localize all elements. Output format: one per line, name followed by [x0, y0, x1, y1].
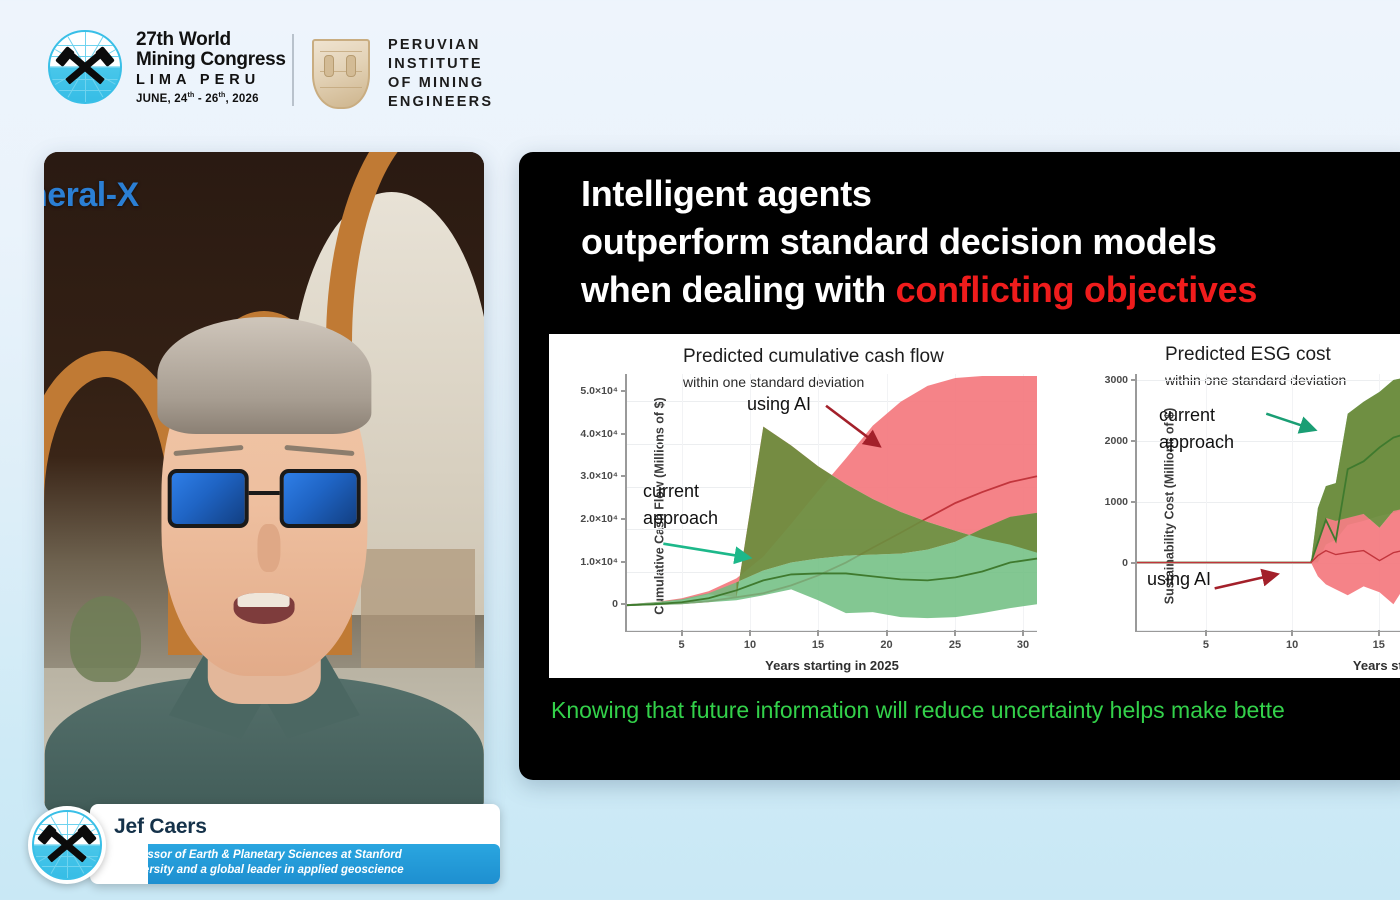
presentation-slide[interactable]: Intelligent agents outperform standard d… [519, 152, 1400, 780]
chart-left-plot-area: 0 1.0×10⁴ 2.0×10⁴ 3.0×10⁴ 4.0×10⁴ 5.0×10… [625, 374, 1037, 632]
chart-left-ytick-3: 3.0×10⁴ [580, 470, 618, 482]
speaker-portrait [92, 298, 435, 814]
chart-left-ytick-0: 0 [612, 598, 618, 610]
speaker-name-plate: Jef Caers Professor of Earth & Planetary… [28, 804, 500, 886]
name-plate-globe-icon [28, 806, 106, 884]
congress-wordmark: 27th World Mining Congress LIMA PERU JUN… [136, 30, 286, 105]
slide-title-line-3: when dealing with conflicting objectives [581, 266, 1400, 314]
slide-title-line-1: Intelligent agents [581, 170, 1400, 218]
shield-icon [312, 39, 370, 109]
chart-right-xtick-10: 10 [1286, 639, 1298, 651]
institute-line-4: ENGINEERS [388, 93, 493, 112]
chart-right-title: Predicted ESG cost [1165, 344, 1331, 366]
chart-right-ytick-1000: 1000 [1105, 496, 1128, 508]
institute-line-1: PERUVIAN [388, 36, 493, 55]
speaker-name: Jef Caers [114, 815, 207, 839]
chart-left-ytick-2: 2.0×10⁴ [580, 513, 618, 525]
peruvian-institute-logo: PERUVIAN INSTITUTE OF MINING ENGINEERS [312, 36, 493, 113]
slide-title-line-2: outperform standard decision models [581, 218, 1400, 266]
chart-right-plot-area: 0 1000 2000 3000 5 10 15 Years starting … [1135, 374, 1400, 632]
slide-title: Intelligent agents outperform standard d… [581, 170, 1400, 315]
chart-left-ytick-5: 5.0×10⁴ [580, 385, 618, 397]
chart-right-ytick-3000: 3000 [1105, 374, 1128, 386]
congress-line-1: 27th World [136, 30, 286, 50]
chart-left-xtick-25: 25 [949, 639, 961, 651]
chart-right-arrow-using-ai [1137, 374, 1400, 630]
chart-left-xlabel: Years starting in 2025 [765, 658, 899, 673]
globe-hammers-icon [48, 30, 122, 104]
chart-right-ytick-0: 0 [1122, 557, 1128, 569]
institute-wordmark: PERUVIAN INSTITUTE OF MINING ENGINEERS [388, 36, 493, 113]
congress-dates: JUNE, 24th - 26th, 2026 [136, 92, 286, 105]
chart-left-xtick-5: 5 [678, 639, 684, 651]
speaker-video-panel[interactable]: ineral-X [44, 152, 484, 814]
chart-left-xtick-15: 15 [812, 639, 824, 651]
chart-right-xtick-5: 5 [1203, 639, 1209, 651]
congress-location: LIMA PERU [136, 73, 286, 88]
chart-cumulative-cash-flow: Cumulative Cash Flow (Millions of $) Pre… [549, 334, 1069, 678]
chart-left-arrow-current-approach [627, 374, 1037, 630]
chart-left-xtick-30: 30 [1017, 639, 1029, 651]
institute-line-3: OF MINING [388, 74, 493, 93]
speaker-role-line-1: Professor of Earth & Planetary Sciences … [118, 848, 486, 863]
chart-left-title: Predicted cumulative cash flow [683, 346, 944, 368]
charts-figure: Cumulative Cash Flow (Millions of $) Pre… [549, 334, 1400, 678]
chart-left-xtick-20: 20 [880, 639, 892, 651]
eyeglasses [167, 469, 361, 528]
speaker-role: Professor of Earth & Planetary Sciences … [118, 848, 486, 877]
chart-right-xlabel: Years starting in 20 [1353, 658, 1400, 673]
slide-caption: Knowing that future information will red… [551, 697, 1400, 724]
speaker-role-line-2: University and a global leader in applie… [118, 863, 486, 878]
chart-esg-cost: Sustainability Cost (Millions of $) Pred… [1069, 334, 1400, 678]
chart-left-ytick-4: 4.0×10⁴ [580, 428, 618, 440]
mineral-x-watermark: ineral-X [44, 176, 139, 215]
congress-line-2: Mining Congress [136, 50, 286, 70]
chart-right-xtick-15: 15 [1373, 639, 1385, 651]
world-mining-congress-logo: 27th World Mining Congress LIMA PERU JUN… [48, 30, 286, 105]
page-header: 27th World Mining Congress LIMA PERU JUN… [0, 0, 1400, 148]
institute-line-2: INSTITUTE [388, 55, 493, 74]
slide-title-plain: when dealing with [581, 269, 896, 310]
chart-left-xtick-10: 10 [744, 639, 756, 651]
crossed-hammers-icon [58, 45, 112, 89]
crossed-hammers-icon [40, 823, 94, 867]
chart-right-ytick-2000: 2000 [1105, 435, 1128, 447]
header-divider [292, 34, 294, 106]
slide-title-highlight: conflicting objectives [896, 269, 1257, 310]
chart-left-ytick-1: 1.0×10⁴ [580, 556, 618, 568]
